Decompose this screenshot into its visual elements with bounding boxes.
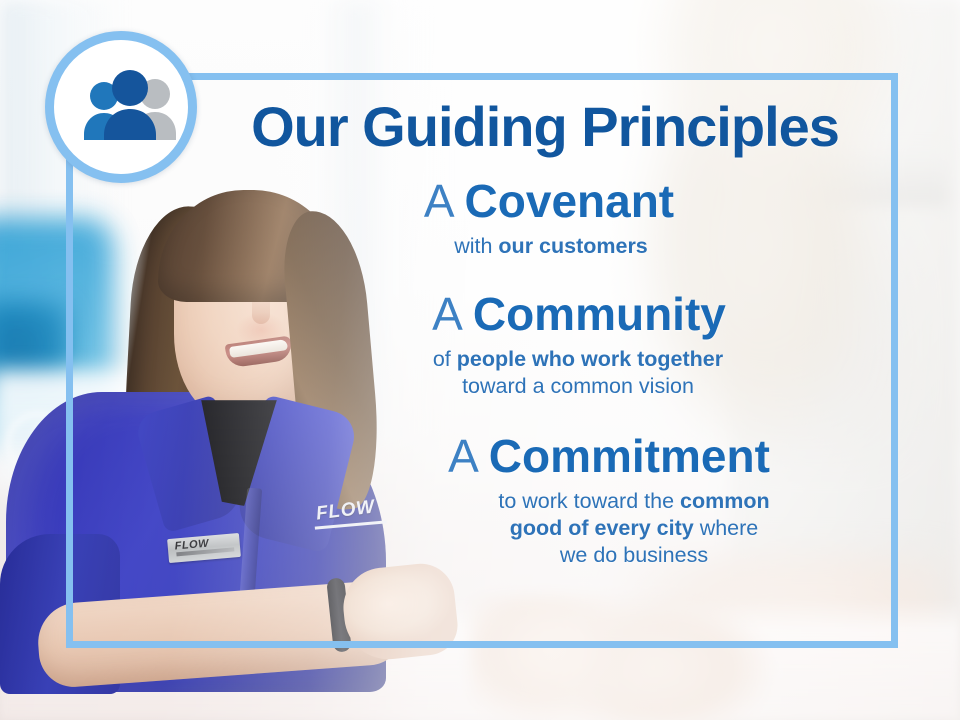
principle-1-subline-1: with our customers	[212, 233, 890, 260]
principle-1-subtext: with our customers	[200, 233, 890, 260]
principle-1-article: A	[424, 175, 455, 227]
principle-2-subline-2: toward a common vision	[266, 373, 890, 400]
principle-covenant: ACovenant with our customers	[200, 177, 890, 260]
principle-3-article: A	[448, 430, 479, 482]
banner-stage: FLOW FLOW Our Guiding Principles	[0, 0, 960, 720]
people-group-icon	[76, 68, 184, 154]
principle-3-subtext: to work toward the common good of every …	[200, 488, 890, 569]
principle-3-subline-1: to work toward the common	[378, 488, 890, 515]
principle-3-keyword: Commitment	[489, 430, 770, 482]
principle-1-keyword: Covenant	[465, 175, 675, 227]
principle-3-subline-2: good of every city where	[378, 515, 890, 542]
principle-community: ACommunity of people who work together t…	[200, 290, 890, 400]
principle-commitment: ACommitment to work toward the common go…	[200, 432, 890, 569]
principle-2-subline-1: of people who work together	[266, 346, 890, 373]
page-title: Our Guiding Principles	[200, 98, 890, 155]
principle-2-article: A	[432, 288, 463, 340]
principle-2-keyword: Community	[473, 288, 726, 340]
principle-3-heading: ACommitment	[200, 432, 890, 481]
principle-1-heading: ACovenant	[200, 177, 890, 226]
text-content: Our Guiding Principles ACovenant with ou…	[200, 78, 890, 569]
principle-2-subtext: of people who work together toward a com…	[200, 346, 890, 400]
principle-3-subline-3: we do business	[378, 542, 890, 569]
principle-2-heading: ACommunity	[200, 290, 890, 339]
people-group-badge	[45, 31, 197, 183]
